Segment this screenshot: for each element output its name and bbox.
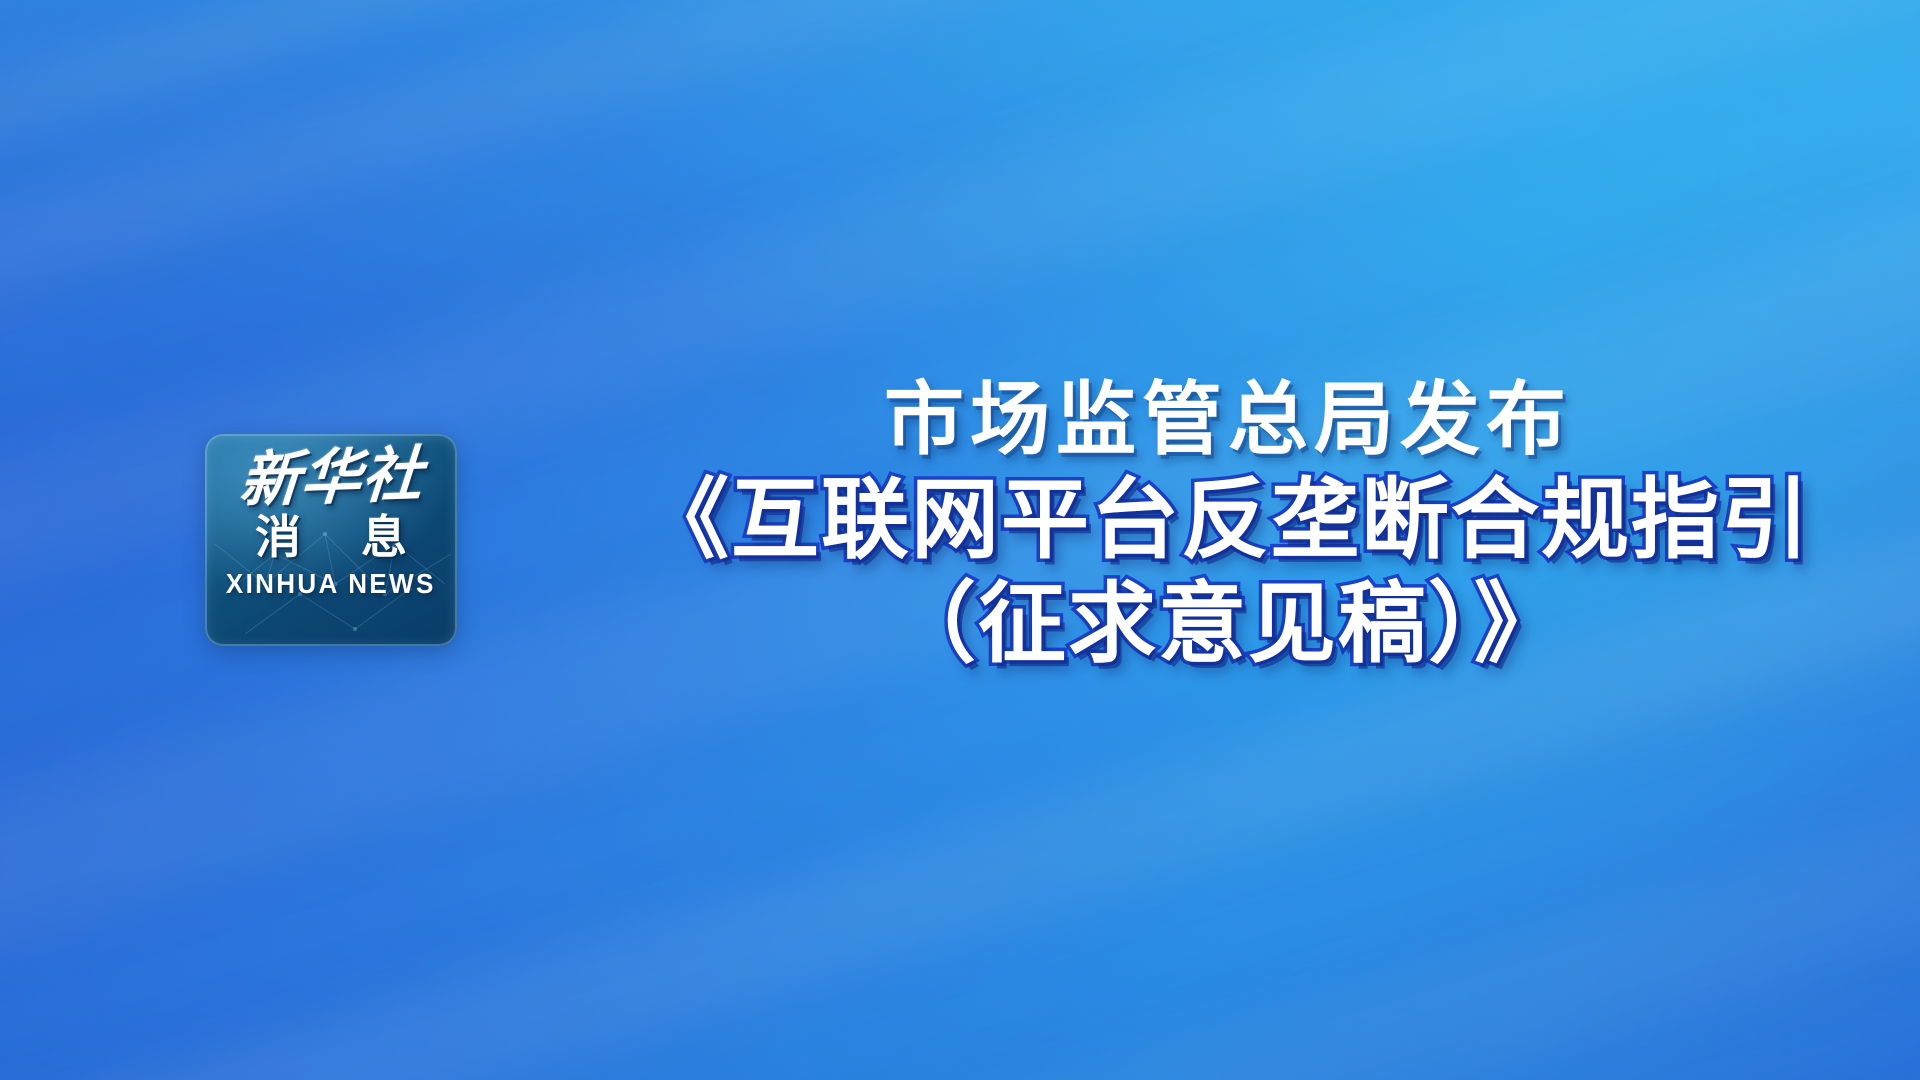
logo-brand-cn: 新华社 xyxy=(237,445,425,511)
logo-text-stack: 新华社 消 息 XINHUA NEWS xyxy=(205,434,457,646)
headline-line-1: 市场监管总局发布 xyxy=(560,372,1890,468)
news-card-canvas: 新华社 消 息 XINHUA NEWS 市场监管总局发布 《互联网平台反垄断合规… xyxy=(0,0,1920,1080)
xinhua-news-logo-badge: 新华社 消 息 XINHUA NEWS xyxy=(205,434,457,646)
logo-brand-cn-sub: 消 息 xyxy=(233,514,429,560)
logo-brand-en: XINHUA NEWS xyxy=(226,570,436,598)
headline-block: 市场监管总局发布 《互联网平台反垄断合规指引 （征求意见稿）》 xyxy=(560,372,1890,676)
headline-line-2: 《互联网平台反垄断合规指引 xyxy=(560,468,1890,572)
headline-line-3: （征求意见稿）》 xyxy=(560,572,1890,676)
